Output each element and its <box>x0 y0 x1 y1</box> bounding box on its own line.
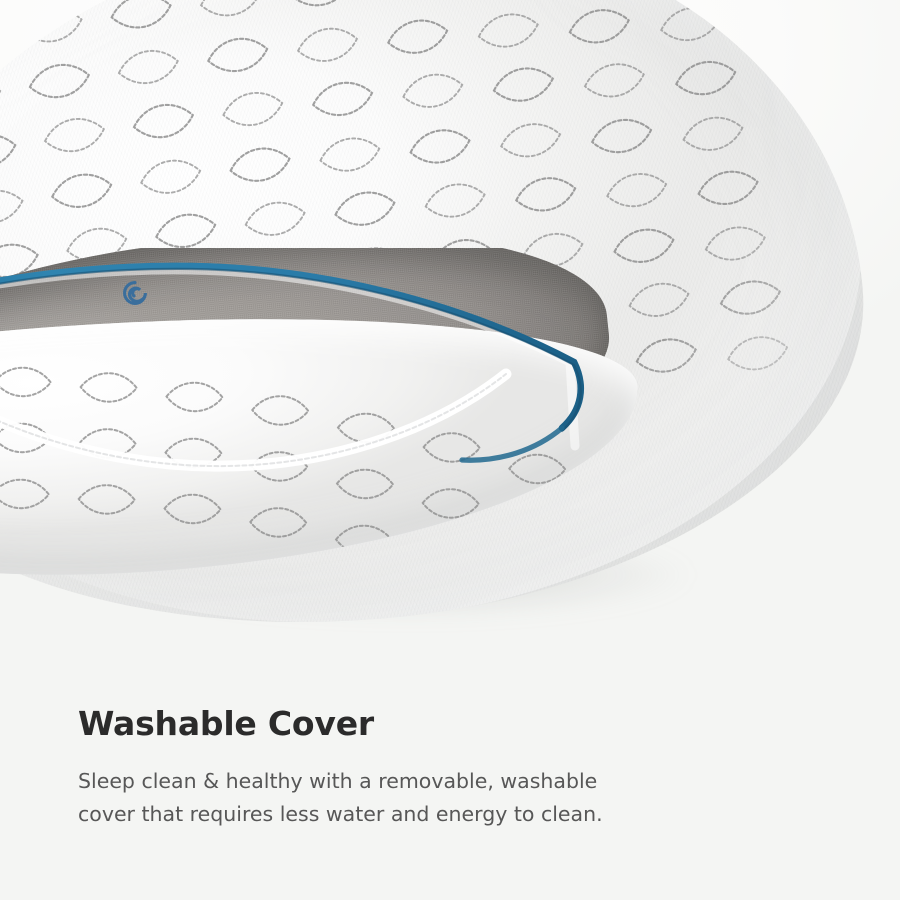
caption-block: Washable Cover Sleep clean & healthy wit… <box>78 706 778 831</box>
feature-description: Sleep clean & healthy with a removable, … <box>78 765 678 831</box>
pillow <box>0 0 860 620</box>
teal-piping-trim <box>0 0 730 550</box>
product-photo <box>0 0 900 660</box>
description-line-1: Sleep clean & healthy with a removable, … <box>78 765 678 798</box>
description-line-2: cover that requires less water and energ… <box>78 798 678 831</box>
product-feature-card: Washable Cover Sleep clean & healthy wit… <box>0 0 900 900</box>
feature-headline: Washable Cover <box>78 706 778 743</box>
